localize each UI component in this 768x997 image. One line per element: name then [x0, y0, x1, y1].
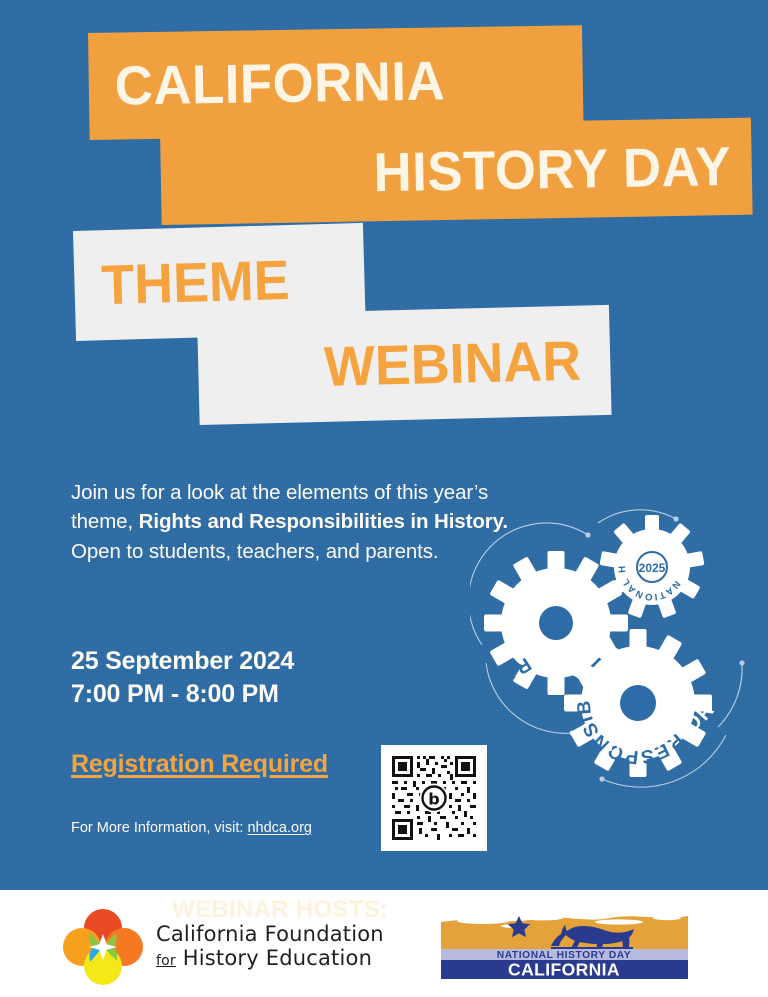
- nhd-california-logo: NATIONAL HISTORY DAY CALIFORNIA: [423, 898, 706, 980]
- cfhe-for-word: for: [156, 953, 176, 969]
- gear-nhd-year: 2025: [639, 561, 666, 575]
- cfhe-line2: for History Education: [156, 947, 384, 971]
- headline-theme: THEME: [74, 252, 291, 314]
- poster-canvas: CALIFORNIA HISTORY DAY THEME WEBINAR Joi…: [0, 0, 768, 997]
- more-information-line: For More Information, visit: nhdca.org: [71, 820, 312, 836]
- nhdca-bottom-text: CALIFORNIA: [508, 959, 620, 979]
- nhd-theme-gear-logo: RIGHTS & 2025: [470, 495, 750, 795]
- intro-text-part2: Open to students, teachers, and parents.: [71, 540, 439, 563]
- cfhe-wordmark: California Foundation for History Educat…: [156, 923, 384, 971]
- headline-banner-history-day: HISTORY DAY: [160, 118, 753, 225]
- event-datetime: 25 September 2024 7:00 PM - 8:00 PM: [71, 645, 491, 712]
- intro-paragraph: Join us for a look at the elements of th…: [71, 478, 523, 566]
- headline-history-day: HISTORY DAY: [373, 139, 752, 201]
- qr-center-glyph: b: [428, 790, 439, 809]
- cfhe-line2-rest: History Education: [183, 946, 372, 970]
- nhdca-website-link[interactable]: nhdca.org: [247, 820, 312, 836]
- more-information-prefix: For More Information, visit:: [71, 820, 243, 836]
- registration-required-link[interactable]: Registration Required: [71, 750, 328, 779]
- headline-webinar: WEBINAR: [324, 332, 611, 395]
- headline-banner-webinar: WEBINAR: [197, 305, 612, 425]
- cfhe-flower-icon: [60, 906, 146, 988]
- gear-nhd-2025: 2025: [600, 515, 705, 618]
- event-time: 7:00 PM - 8:00 PM: [71, 678, 491, 711]
- event-date: 25 September 2024: [71, 645, 491, 678]
- cfhe-logo: California Foundation for History Educat…: [60, 906, 384, 988]
- cfhe-line1: California Foundation: [156, 923, 384, 947]
- intro-text-theme-bold: Rights and Responsibilities in History.: [139, 510, 508, 533]
- headline-california: CALIFORNIA: [88, 53, 445, 114]
- footer-bar: WEBINAR HOSTS: California Foundation fo: [0, 890, 768, 997]
